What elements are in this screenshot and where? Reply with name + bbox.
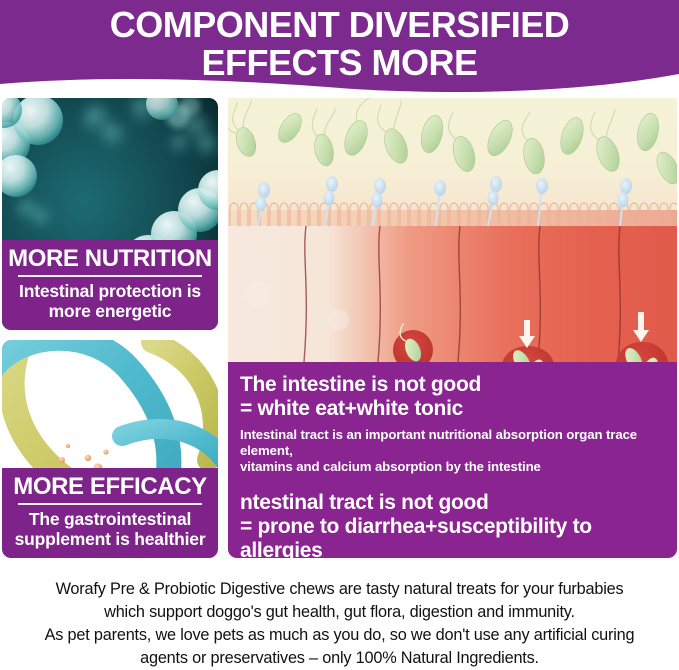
- page-title: COMPONENT DIVERSIFIED EFFECTS MORE: [0, 6, 679, 82]
- info-head-line-1: The intestine is not good: [240, 373, 665, 397]
- page-title-line-2: EFFECTS MORE: [0, 44, 679, 82]
- panel-more-efficacy: MORE EFFICACY The gastrointestinal suppl…: [2, 340, 218, 558]
- description-line-3: As pet parents, we love pets as much as …: [0, 624, 679, 647]
- info-body-line-2: vitamins and calcium absorption by the i…: [240, 459, 665, 475]
- info-block-1: The intestine is not good = white eat+wh…: [240, 373, 665, 475]
- caption-divider: [18, 275, 201, 277]
- caption-more-efficacy: MORE EFFICACY The gastrointestinal suppl…: [2, 468, 218, 558]
- caption-more-nutrition: MORE NUTRITION Intestinal protection is …: [2, 240, 218, 330]
- info-body-line-1: Intestinal tract is an important nutriti…: [240, 427, 665, 459]
- info-panel: The intestine is not good = white eat+wh…: [228, 362, 677, 558]
- info-block-2: ntestinal tract is not good = prone to d…: [240, 491, 665, 585]
- description-line-1: Worafy Pre & Probiotic Digestive chews a…: [0, 578, 679, 601]
- header-banner: COMPONENT DIVERSIFIED EFFECTS MORE: [0, 0, 679, 96]
- panel-more-nutrition: MORE NUTRITION Intestinal protection is …: [2, 98, 218, 330]
- left-panel-column: MORE NUTRITION Intestinal protection is …: [2, 98, 218, 558]
- panel-subtitle-line-2: supplement is healthier: [6, 529, 214, 549]
- intestine-cross-section-graphic: [228, 98, 677, 362]
- description-line-4: agents or preservatives – only 100% Natu…: [0, 647, 679, 670]
- panel-subtitle-line-1: The gastrointestinal: [6, 509, 214, 529]
- intestinal-illustration: [228, 98, 677, 362]
- panel-subtitle-line-1: Intestinal protection is: [6, 281, 214, 301]
- page-title-line-1: COMPONENT DIVERSIFIED: [110, 4, 570, 45]
- info-head-line-2: = prone to diarrhea+susceptibility to al…: [240, 515, 665, 563]
- product-description: Worafy Pre & Probiotic Digestive chews a…: [0, 578, 679, 670]
- panel-title: MORE NUTRITION: [6, 245, 214, 272]
- info-head-line-1: ntestinal tract is not good: [240, 491, 665, 515]
- info-head-line-2: = white eat+white tonic: [240, 397, 665, 421]
- description-line-2: which support doggo's gut health, gut fl…: [0, 601, 679, 624]
- panel-title: MORE EFFICACY: [6, 473, 214, 500]
- caption-divider: [18, 503, 201, 505]
- panel-subtitle-line-2: more energetic: [6, 301, 214, 321]
